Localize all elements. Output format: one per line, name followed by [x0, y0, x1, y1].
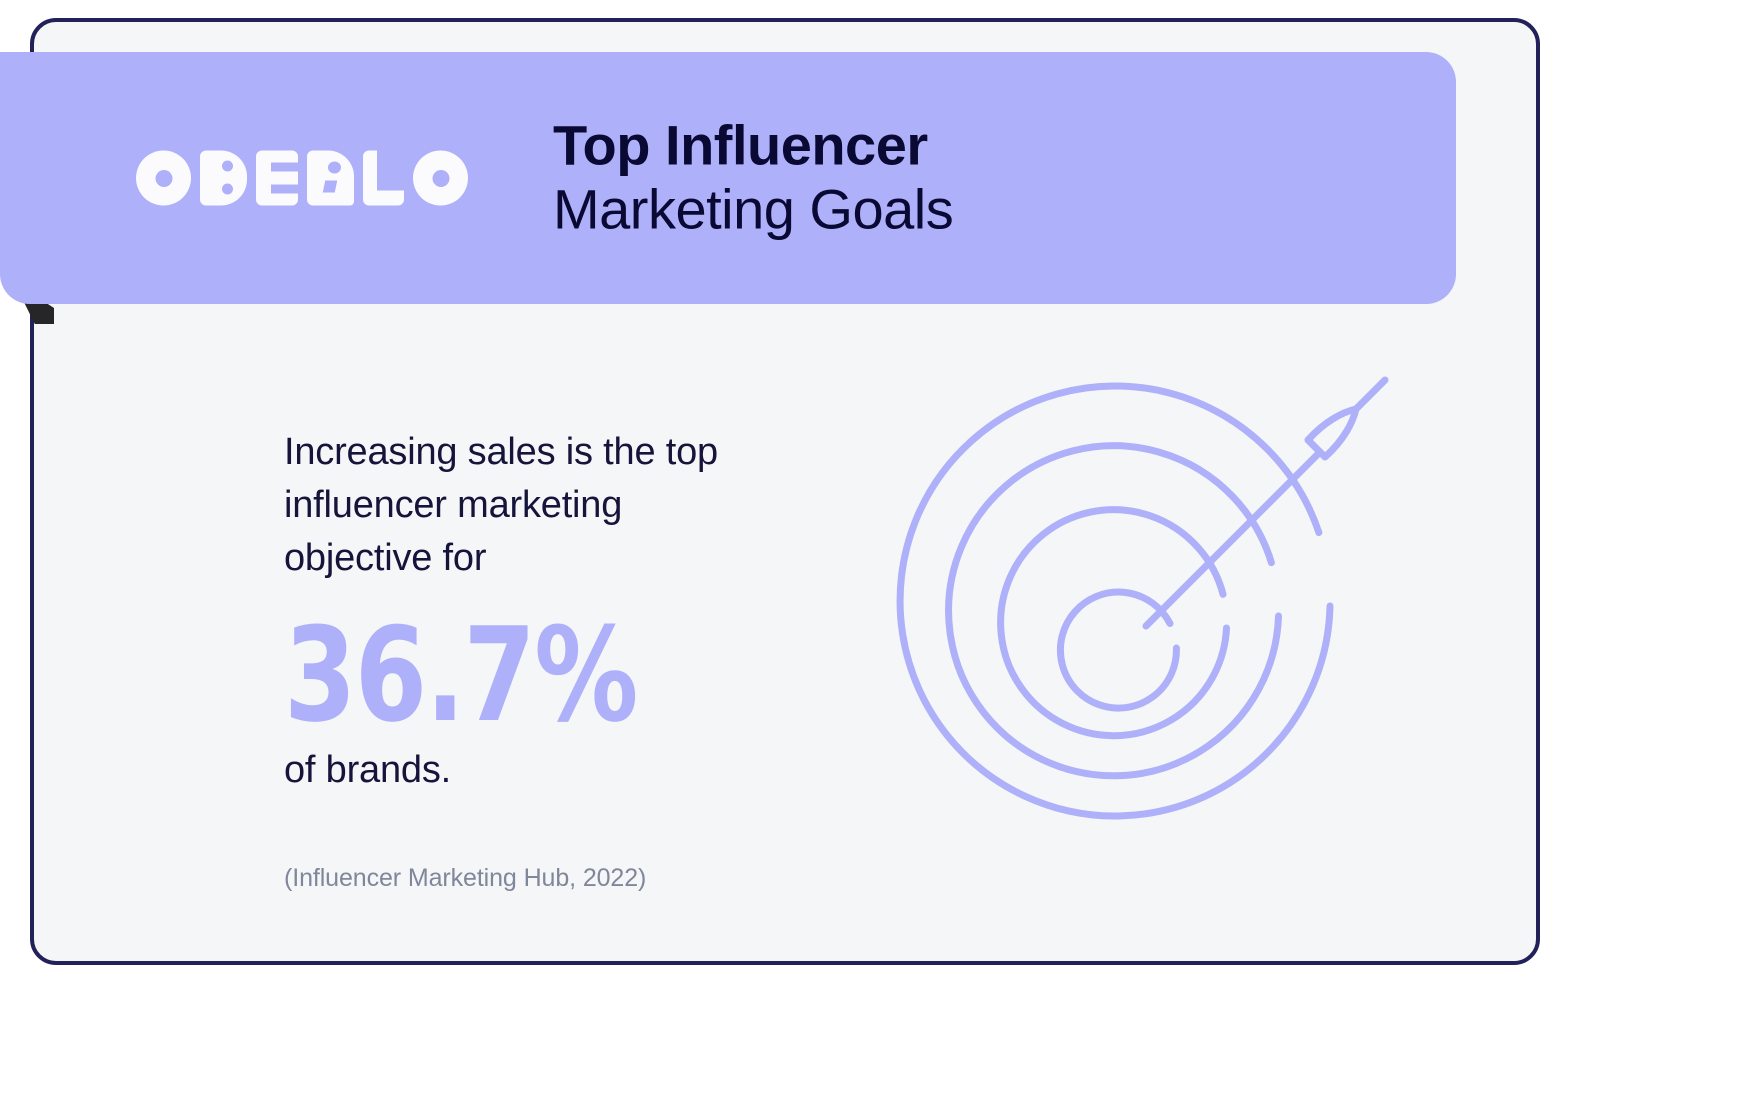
header-banner: Top Influencer Marketing Goals	[0, 52, 1456, 304]
target-ring-3	[1001, 510, 1227, 736]
arrow-nock	[1354, 380, 1385, 411]
card-body: Increasing sales is the top influencer m…	[68, 328, 1502, 939]
arrow-shaft	[1146, 452, 1320, 626]
page-title: Top Influencer Marketing Goals	[553, 116, 953, 241]
target-ring-outer	[900, 386, 1330, 816]
target-with-arrow-icon	[888, 366, 1408, 886]
logo-letter-l	[363, 151, 404, 206]
statistic-value: 36.7%	[284, 610, 700, 740]
lede-text: Increasing sales is the top influencer m…	[284, 426, 774, 584]
text-column: Increasing sales is the top influencer m…	[284, 426, 804, 894]
arrow-fletching	[1308, 409, 1356, 457]
header-banner-inner: Top Influencer Marketing Goals	[0, 52, 1456, 304]
logo-letter-r	[307, 151, 354, 206]
oberlo-logo[interactable]	[136, 151, 468, 206]
logo-letter-e	[256, 151, 298, 206]
page-title-line2: Marketing Goals	[553, 180, 953, 240]
page-title-line1: Top Influencer	[553, 116, 953, 176]
logo-letter-o2	[413, 151, 468, 206]
logo-letter-b	[200, 151, 247, 206]
target-with-arrow-svg	[888, 366, 1408, 886]
statistic-suffix: of brands.	[284, 746, 804, 795]
logo-letter-o1	[136, 151, 191, 206]
source-citation: (Influencer Marketing Hub, 2022)	[284, 862, 804, 895]
infographic-canvas: Increasing sales is the top influencer m…	[0, 0, 1740, 1105]
